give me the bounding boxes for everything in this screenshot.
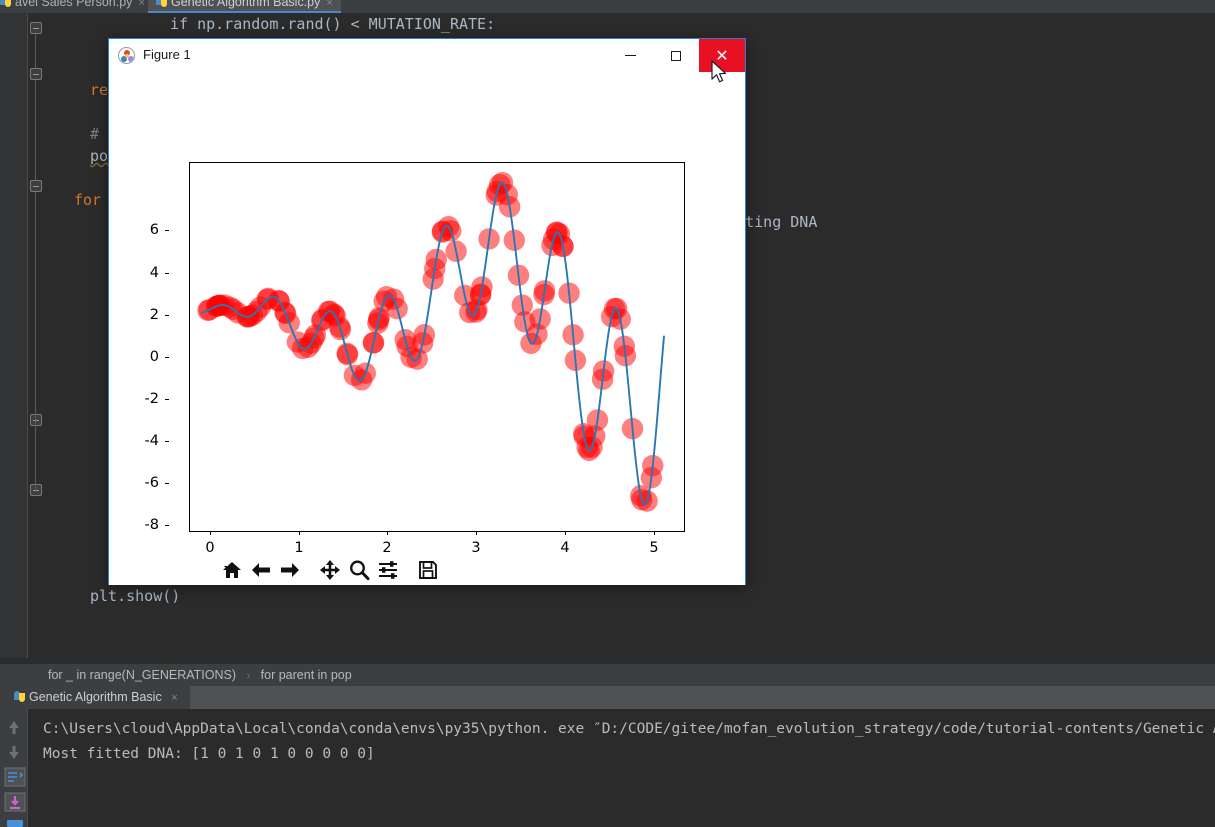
breadcrumb-item-generations[interactable]: for _ in range(N_GENERATIONS) (48, 668, 236, 682)
figure-toolbar (109, 554, 745, 585)
editor-tab-label: avel Sales Person.py (15, 0, 132, 9)
plot-area (190, 163, 684, 531)
y-tick-label: -8 (145, 517, 159, 533)
code-line: plt.show() (90, 585, 180, 607)
close-icon[interactable]: × (171, 692, 177, 704)
console-line-result: Most fitted DNA: [1 0 1 0 1 0 0 0 0 0] (43, 742, 1215, 767)
pan-button[interactable] (315, 555, 344, 584)
console-side-toolbar (0, 709, 28, 827)
breadcrumb-item-parent[interactable]: for parent in pop (261, 668, 352, 682)
configure-subplots-button[interactable] (373, 555, 402, 584)
home-button[interactable] (217, 555, 246, 584)
scroll-up-icon[interactable] (4, 717, 24, 737)
save-button[interactable] (413, 555, 442, 584)
editor-tab-label: Genetic Algorithm Basic.py (171, 0, 320, 9)
y-tick-label: -4 (145, 433, 159, 449)
fold-marker[interactable] (30, 180, 42, 192)
y-tick-label: 2 (150, 307, 159, 323)
y-tick-label: 6 (150, 222, 159, 238)
screen: avel Sales Person.py× Genetic Algorithm … (0, 0, 1215, 827)
console-tab-genetic-algorithm-basic[interactable]: Genetic Algorithm Basic × (10, 686, 188, 709)
editor-tab-travel-sales[interactable]: avel Sales Person.py× (0, 0, 153, 13)
y-tick-label: 4 (150, 265, 159, 281)
editor-tab-genetic-algorithm-basic[interactable]: Genetic Algorithm Basic.py× (148, 0, 341, 13)
print-icon[interactable] (4, 817, 26, 827)
figure-window[interactable]: Figure 1 ✕ 6 4 2 0 -2 -4 -6 -8 -10 (108, 38, 746, 585)
scroll-to-end-icon[interactable] (4, 792, 26, 812)
plot-axes (189, 162, 685, 532)
fold-marker[interactable] (30, 484, 42, 496)
maximize-icon (671, 51, 681, 61)
minimize-button[interactable] (607, 39, 653, 72)
fold-guide (35, 80, 36, 180)
back-button[interactable] (246, 555, 275, 584)
matplotlib-icon (118, 47, 135, 64)
editor-gutter[interactable] (0, 13, 28, 658)
figure-title-bar[interactable]: Figure 1 ✕ (109, 39, 745, 72)
console-tab-label: Genetic Algorithm Basic (29, 690, 162, 704)
soft-wrap-icon[interactable] (4, 767, 26, 787)
figure-canvas: 6 4 2 0 -2 -4 -6 -8 -10 0 1 2 3 4 5 (109, 72, 745, 554)
scatter-series (197, 172, 663, 512)
python-file-icon (156, 0, 167, 7)
code-line: if np.random.rand() < MUTATION_RATE: (170, 13, 495, 35)
fold-marker[interactable] (30, 68, 42, 80)
maximize-button[interactable] (653, 39, 699, 72)
scroll-down-icon[interactable] (4, 742, 24, 762)
figure-title: Figure 1 (143, 47, 191, 62)
zoom-button[interactable] (344, 555, 373, 584)
console-output[interactable]: C:\Users\cloud\AppData\Local\conda\conda… (29, 709, 1215, 827)
fold-guide (35, 192, 36, 492)
fold-guide (35, 34, 36, 68)
console-line-command: C:\Users\cloud\AppData\Local\conda\conda… (43, 717, 1215, 742)
close-icon[interactable]: × (326, 0, 332, 9)
python-run-icon (14, 691, 25, 702)
console-tab-bar: Genetic Algorithm Basic × (0, 686, 1215, 709)
forward-button[interactable] (275, 555, 304, 584)
y-tick-label: 0 (150, 349, 159, 365)
editor-tab-bar: avel Sales Person.py× Genetic Algorithm … (0, 0, 1215, 13)
minimize-icon (625, 55, 636, 56)
chevron-right-icon: › (247, 670, 251, 682)
fold-marker[interactable] (30, 414, 42, 426)
close-icon[interactable]: × (138, 0, 144, 9)
y-tick-label: -6 (145, 475, 159, 491)
python-file-icon (0, 0, 11, 7)
mouse-cursor-icon (711, 60, 729, 86)
y-tick-label: -2 (145, 391, 159, 407)
breadcrumb[interactable]: for _ in range(N_GENERATIONS) › for pare… (0, 664, 1215, 686)
console-tab-strip (190, 686, 1215, 709)
fold-marker[interactable] (30, 22, 42, 34)
